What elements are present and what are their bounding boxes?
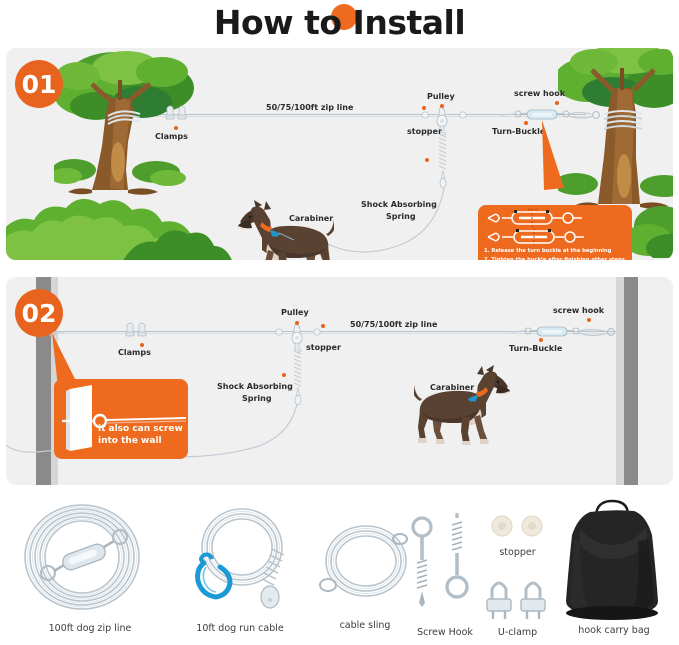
step-badge-01: 01 bbox=[15, 60, 63, 108]
wall-callout-line-1: it also can screw bbox=[98, 423, 183, 435]
stopper-hardware bbox=[420, 110, 430, 120]
marker-dot-spring bbox=[425, 158, 429, 162]
stopper-hardware-2 bbox=[458, 110, 468, 120]
marker-dot-pulley-02 bbox=[295, 321, 299, 325]
marker-dot-spring-02 bbox=[282, 373, 286, 377]
marker-dot-turnbuckle bbox=[524, 121, 528, 125]
product-caption: Screw Hook bbox=[417, 627, 473, 638]
label-zip-line-02: 50/75/100ft zip line bbox=[350, 320, 437, 330]
page-header: How to Install bbox=[0, 0, 679, 44]
turnbuckle-instruction-callout: 1. Release the turn buckle at the beginn… bbox=[478, 205, 632, 260]
wall-post-right bbox=[624, 277, 638, 485]
shock-absorbing-spring-02 bbox=[291, 349, 305, 407]
turnbuckle-screwhook-hardware-02 bbox=[511, 321, 621, 345]
bush-foliage-left bbox=[6, 176, 240, 260]
label-stopper-02: stopper bbox=[306, 343, 341, 353]
label-pulley-01: Pulley bbox=[427, 92, 455, 102]
marker-dot-pulley bbox=[440, 104, 444, 108]
label-zip-line-01: 50/75/100ft zip line bbox=[266, 103, 353, 113]
label-turn-buckle-02: Turn-Buckle bbox=[509, 344, 562, 354]
product-caption: U-clamp bbox=[498, 627, 537, 638]
product-caption: 10ft dog run cable bbox=[196, 623, 283, 634]
label-carabiner-01: Carabiner bbox=[289, 214, 333, 224]
label-clamps-02: Clamps bbox=[118, 348, 151, 358]
tree-wrap-right bbox=[602, 108, 646, 138]
carry-bag-image bbox=[550, 495, 678, 625]
stopper-hardware-02a bbox=[274, 327, 284, 337]
clamps-hardware bbox=[164, 104, 190, 124]
product-gallery: 100ft dog zip line bbox=[0, 495, 679, 645]
product-caption: hook carry bag bbox=[578, 625, 649, 636]
product-caption: 100ft dog zip line bbox=[49, 623, 132, 634]
marker-dot-screw-hook-02 bbox=[587, 318, 591, 322]
label-carabiner-02: Carabiner bbox=[430, 383, 474, 393]
wall-post-right-edge bbox=[616, 277, 624, 485]
label-pulley-02: Pulley bbox=[281, 308, 309, 318]
label-shock-absorbing-01: Shock Absorbing bbox=[361, 200, 437, 210]
page-title: How to Install bbox=[214, 3, 465, 42]
dog-illustration bbox=[238, 200, 334, 260]
wall-callout-line-2: into the wall bbox=[98, 435, 183, 447]
marker-dot-screw-hook bbox=[555, 101, 559, 105]
install-step-panel-01: Clamps 50/75/100ft zip line Pulley stopp… bbox=[6, 48, 673, 260]
dog-illustration-02 bbox=[414, 365, 510, 449]
callout-line-2: 2. Tighten the buckle after finishing ot… bbox=[484, 256, 626, 260]
marker-dot-clamps bbox=[174, 126, 178, 130]
callout-line-1: 1. Release the turn buckle at the beginn… bbox=[484, 247, 626, 256]
product-caption: cable sling bbox=[340, 620, 391, 631]
bush-foliage-right bbox=[626, 196, 673, 258]
marker-dot-stopper bbox=[422, 106, 426, 110]
tree-wrap-left bbox=[106, 106, 148, 132]
install-step-panel-02: Clamps Pulley stopper Shock Absorbing Sp… bbox=[6, 277, 673, 485]
stopper-hardware-02b bbox=[312, 327, 322, 337]
label-shock-absorbing-02: Shock Absorbing bbox=[217, 382, 293, 392]
wall-screw-callout: it also can screw into the wall bbox=[54, 379, 188, 459]
turnbuckle-diagram bbox=[484, 209, 626, 245]
marker-dot-stopper-02 bbox=[321, 324, 325, 328]
product-zip-line: 100ft dog zip line bbox=[10, 501, 170, 641]
label-clamps-01: Clamps bbox=[155, 132, 188, 142]
label-spring-02: Spring bbox=[242, 394, 272, 404]
marker-dot-turnbuckle-02 bbox=[539, 338, 543, 342]
step-badge-02: 02 bbox=[15, 289, 63, 337]
label-screw-hook-02: screw hook bbox=[553, 306, 604, 316]
callout-tail-01 bbox=[536, 120, 576, 206]
label-stopper-01: stopper bbox=[407, 127, 442, 137]
zip-line-coil-image bbox=[10, 501, 170, 621]
product-carry-bag: hook carry bag bbox=[550, 495, 678, 640]
label-spring-01: Spring bbox=[386, 212, 416, 222]
clamps-hardware-02 bbox=[124, 321, 150, 341]
product-run-cable: 10ft dog run cable bbox=[160, 501, 320, 641]
marker-dot-clamps-02 bbox=[140, 343, 144, 347]
product-caption: stopper bbox=[499, 547, 535, 558]
run-cable-image bbox=[160, 501, 320, 621]
label-screw-hook-01: screw hook bbox=[514, 89, 565, 99]
shock-absorbing-spring bbox=[436, 132, 450, 190]
